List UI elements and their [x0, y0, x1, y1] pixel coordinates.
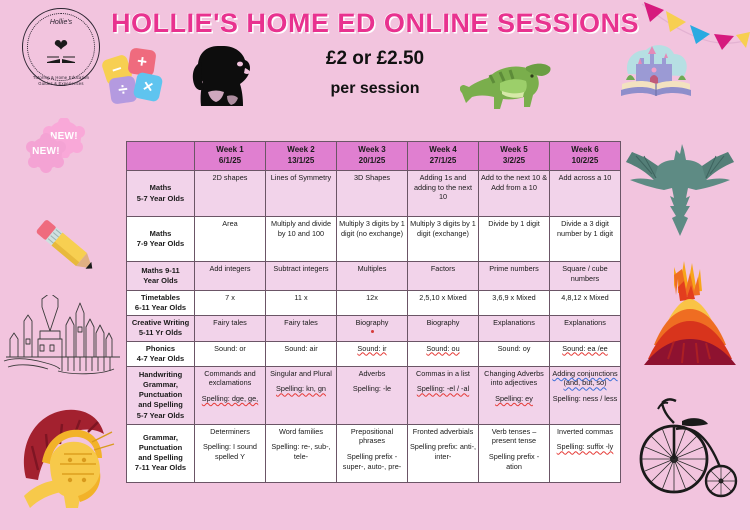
timetable-table: Week 1 6/1/25 Week 2 13/1/25 Week 3 20/1… [126, 141, 621, 483]
subject-age: 4-7 Year Olds [128, 354, 193, 364]
cell-topic: Fronted adverbials [413, 427, 473, 436]
cell: Biography [408, 316, 479, 341]
week-label: Week 1 [196, 145, 264, 156]
cell: Fairy tales [195, 316, 266, 341]
hollie-logo-stamp: Hollie's ❤ Tutoring & Home Education Gui… [22, 8, 100, 86]
cell-spelling: Spelling: re-, sub-, tele- [271, 442, 330, 461]
subject-line: Punctuation [128, 390, 193, 400]
subject-name: Timetables [128, 293, 193, 303]
subject-age: 5-7 Year Olds [128, 411, 193, 421]
cell-spelling: Spelling: suffix -ly [557, 442, 614, 451]
cell: Multiples [337, 262, 408, 291]
table-row: Creative Writing 5-11 Yr Olds Fairy tale… [127, 316, 621, 341]
cell: Inverted commas Spelling: suffix -ly [550, 424, 621, 482]
header-week-5: Week 5 3/2/25 [479, 142, 550, 171]
cell: Commas in a list Spelling: -el / -al [408, 366, 479, 424]
cell-spelling: Spelling: ey [495, 394, 533, 403]
cell-spelling: Spelling: kn, gn [276, 384, 326, 393]
cell: 12x [337, 291, 408, 316]
week-label: Week 6 [551, 145, 619, 156]
subject-age: 7-9 Year Olds [128, 239, 193, 249]
cell-topic: Word families [279, 427, 323, 436]
new-badge-label: NEW! [22, 146, 70, 157]
subject-line: Grammar, [128, 433, 193, 443]
cell-spelling: Spelling prefix: anti-, inter- [410, 442, 476, 461]
cell: Add integers [195, 262, 266, 291]
dinosaur-parasaurolophus-icon [460, 45, 560, 115]
cell: Add to the next 10 & Add from a 10 [479, 171, 550, 217]
cell-spelling: Spelling prefix - ation [489, 452, 539, 471]
week-date: 6/1/25 [196, 156, 264, 167]
cell: Adding 1s and adding to the next 10 [408, 171, 479, 217]
cell: Divide a 3 digit number by 1 digit [550, 217, 621, 262]
cell: 7 x [195, 291, 266, 316]
cell-text: Sound: ea /ee [562, 344, 607, 353]
cell-topic: Inverted commas [557, 427, 613, 436]
math-operator-tiles: − + ÷ × [104, 47, 172, 105]
subject-age: 5-11 Yr Olds [128, 328, 193, 338]
cell: Sound: or [195, 341, 266, 366]
subject-name: Maths [128, 229, 193, 239]
page-title: HOLLIE'S HOME ED ONLINE SESSIONS [0, 8, 750, 39]
cell-spelling: Spelling: -el / -al [417, 384, 469, 393]
new-badge: NEW! [22, 133, 70, 173]
row-header-handwriting-gps-5-7: Handwriting Grammar, Punctuation and Spe… [127, 366, 195, 424]
dragon-icon [624, 138, 744, 238]
subject-name: Maths [128, 183, 193, 193]
cell: Adding conjunctions (and, but, so) Spell… [550, 366, 621, 424]
cell-topic: Changing Adverbs into adjectives [484, 369, 544, 388]
cell-text: Sound: ir [357, 344, 386, 353]
cell: Adverbs Spelling: -le [337, 366, 408, 424]
cell: Sound: ir [337, 341, 408, 366]
logo-bottom-text-2: Guides & Experiences [22, 81, 100, 86]
header-week-1: Week 1 6/1/25 [195, 142, 266, 171]
cell: Word families Spelling: re-, sub-, tele- [266, 424, 337, 482]
subject-age: 6-11 Year Olds [128, 303, 193, 313]
week-label: Week 5 [480, 145, 548, 156]
cell: 3D Shapes [337, 171, 408, 217]
cell-text: Sound: ou [426, 344, 459, 353]
cell: Square / cube numbers [550, 262, 621, 291]
week-date: 20/1/25 [338, 156, 406, 167]
row-header-creative-writing: Creative Writing 5-11 Yr Olds [127, 316, 195, 341]
red-dot-marker [371, 330, 374, 333]
header-week-6: Week 6 10/2/25 [550, 142, 621, 171]
subject-line: Punctuation [128, 443, 193, 453]
cell: Sound: ea /ee [550, 341, 621, 366]
cell: Multiply and divide by 10 and 100 [266, 217, 337, 262]
dog-silhouette-icon [188, 40, 258, 108]
row-header-maths-5-7: Maths 5-7 Year Olds [127, 171, 195, 217]
cell: Prime numbers [479, 262, 550, 291]
cell: Commands and exclamations Spelling: dge,… [195, 366, 266, 424]
subject-line: and Spelling [128, 400, 193, 410]
cell: 2D shapes [195, 171, 266, 217]
table-row: Timetables 6-11 Year Olds 7 x 11 x 12x 2… [127, 291, 621, 316]
cell-topic: Singular and Plural [270, 369, 332, 378]
subject-name: Creative Writing [128, 318, 193, 328]
week-label: Week 2 [267, 145, 335, 156]
roman-helmet-icon [8, 400, 120, 512]
header-week-2: Week 2 13/1/25 [266, 142, 337, 171]
row-header-timetables: Timetables 6-11 Year Olds [127, 291, 195, 316]
cell: Fronted adverbials Spelling prefix: anti… [408, 424, 479, 482]
cell: 3,6,9 x Mixed [479, 291, 550, 316]
row-header-phonics: Phonics 4-7 Year Olds [127, 341, 195, 366]
week-label: Week 3 [338, 145, 406, 156]
table-row: Handwriting Grammar, Punctuation and Spe… [127, 366, 621, 424]
cell: 2,5,10 x Mixed [408, 291, 479, 316]
cell: Changing Adverbs into adjectives Spellin… [479, 366, 550, 424]
cell-topic: Commas in a list [416, 369, 470, 378]
cell: Lines of Symmetry [266, 171, 337, 217]
header-corner-cell [127, 142, 195, 171]
cell-spelling: Spelling: -le [353, 384, 391, 393]
subject-age: Year Olds [128, 276, 193, 286]
cell-topic: Determiners [210, 427, 250, 436]
cell: Sound: ou [408, 341, 479, 366]
cell: Explanations [479, 316, 550, 341]
cell: Biography [337, 316, 408, 341]
cell-spelling: Spelling: I sound spelled Y [203, 442, 257, 461]
week-date: 13/1/25 [267, 156, 335, 167]
week-label: Week 4 [409, 145, 477, 156]
week-date: 3/2/25 [480, 156, 548, 167]
cell: 4,8,12 x Mixed [550, 291, 621, 316]
cell: Factors [408, 262, 479, 291]
cell: Sound: oy [479, 341, 550, 366]
table-row: Phonics 4-7 Year Olds Sound: or Sound: a… [127, 341, 621, 366]
cell: Explanations [550, 316, 621, 341]
table-row: Maths 7-9 Year Olds Area Multiply and di… [127, 217, 621, 262]
subject-age: 5-7 Year Olds [128, 194, 193, 204]
penny-farthing-bicycle-icon [638, 385, 740, 510]
cell-spelling: Spelling prefix -super-, auto-, pre- [343, 452, 401, 471]
row-header-maths-7-9: Maths 7-9 Year Olds [127, 217, 195, 262]
cell: Singular and Plural Spelling: kn, gn [266, 366, 337, 424]
poster-canvas: HOLLIE'S HOME ED ONLINE SESSIONS £2 or £… [0, 0, 750, 530]
row-header-maths-9-11: Maths 9-11 Year Olds [127, 262, 195, 291]
logo-bottom-text-1: Tutoring & Home Education [22, 75, 100, 80]
cell: Verb tenses – present tense Spelling pre… [479, 424, 550, 482]
volcano-icon [640, 255, 740, 370]
cell-topic: Adverbs [359, 369, 386, 378]
subject-name: Phonics [128, 344, 193, 354]
cell: Prepositional phrases Spelling prefix -s… [337, 424, 408, 482]
cell-spelling: Spelling: dge, ge, [202, 394, 258, 403]
sessions-timetable: Week 1 6/1/25 Week 2 13/1/25 Week 3 20/1… [126, 141, 620, 483]
cell: Add across a 10 [550, 171, 621, 217]
table-header-row: Week 1 6/1/25 Week 2 13/1/25 Week 3 20/1… [127, 142, 621, 171]
row-header-gps-7-11: Grammar, Punctuation and Spelling 7-11 Y… [127, 424, 195, 482]
cell: Fairy tales [266, 316, 337, 341]
cell-topic: Commands and exclamations [204, 369, 256, 388]
cell-text: Biography [356, 318, 389, 327]
cell: Divide by 1 digit [479, 217, 550, 262]
subject-age: 7-11 Year Olds [128, 463, 193, 473]
table-row: Grammar, Punctuation and Spelling 7-11 Y… [127, 424, 621, 482]
week-date: 27/1/25 [409, 156, 477, 167]
bunting-flags-icon [640, 0, 750, 70]
cell: Multiply 3 digits by 1 digit (exchange) [408, 217, 479, 262]
open-book-icon [46, 54, 76, 64]
subject-line: Handwriting [128, 370, 193, 380]
header-week-3: Week 3 20/1/25 [337, 142, 408, 171]
table-row: Maths 5-7 Year Olds 2D shapes Lines of S… [127, 171, 621, 217]
multiply-tile-icon: × [133, 72, 164, 103]
heart-icon: ❤ [54, 37, 68, 54]
subject-name: Maths 9-11 [128, 266, 193, 276]
cell-spelling: Spelling: ness / less [553, 394, 618, 403]
subject-line: Grammar, [128, 380, 193, 390]
subject-line: and Spelling [128, 453, 193, 463]
cell-topic: Adding conjunctions (and, but, so) [552, 369, 617, 388]
cell: 11 x [266, 291, 337, 316]
header-week-4: Week 4 27/1/25 [408, 142, 479, 171]
cell: Multiply 3 digits by 1 digit (no exchang… [337, 217, 408, 262]
week-date: 10/2/25 [551, 156, 619, 167]
cell: Determiners Spelling: I sound spelled Y [195, 424, 266, 482]
logo-top-text: Hollie's [22, 19, 100, 26]
cell-topic: Prepositional phrases [351, 427, 393, 446]
table-row: Maths 9-11 Year Olds Add integers Subtra… [127, 262, 621, 291]
cell: Sound: air [266, 341, 337, 366]
pencil-icon [20, 205, 110, 285]
cell-topic: Verb tenses – present tense [492, 427, 537, 446]
cell: Subtract integers [266, 262, 337, 291]
castle-line-drawing-icon [2, 295, 124, 377]
cell: Area [195, 217, 266, 262]
